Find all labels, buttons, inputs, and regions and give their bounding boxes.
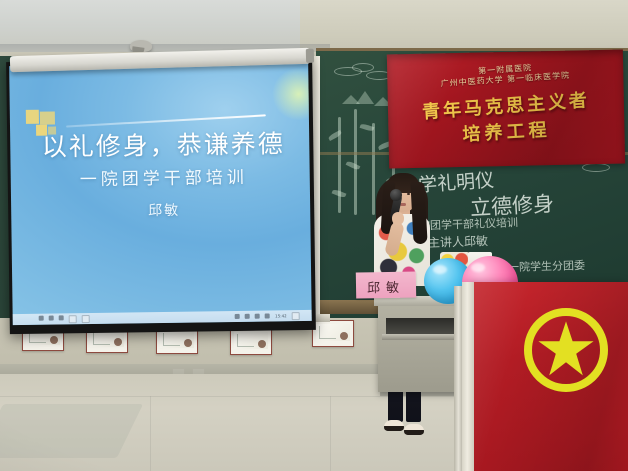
chalk-cloud-icon [582,163,610,172]
ceiling-camera-icon [130,40,152,52]
chalk-signature: 一院学生分团委 [508,257,585,275]
taskbar-left-icons[interactable] [39,315,90,324]
chalk-bamboo-icon [354,109,357,215]
chalk-cloud-icon [352,63,374,72]
banner-college: 第一临床医学院 [507,71,570,84]
framed-picture [230,328,272,355]
ime-icon[interactable] [292,312,300,320]
banner-headline-2: 培养工程 [388,111,625,150]
window-icon[interactable] [82,315,90,323]
chalk-subtitle-line-2: 主讲人邱敏 [428,232,489,251]
banner-headline-1: 青年马克思主义者 [387,83,624,126]
search-icon[interactable] [49,315,54,320]
slide-presenter-name: 邱敏 [21,198,307,222]
projection-screen: 以礼修身，恭谦养德 一院团学干部培训 邱敏 15:42 [6,58,316,334]
speaker-name-card: 邱敏 [356,271,416,298]
banner-org-line: 广州中医药大学 第一临床医学院 [387,66,623,93]
taskbar-clock[interactable]: 15:42 [275,314,287,318]
projector-hotspot [272,68,312,121]
speaker-shoe-right [404,424,424,435]
slide-title: 以礼修身，恭谦养德 [20,124,306,164]
chalk-leaf-icon [346,160,361,171]
cloud-icon[interactable] [245,314,250,319]
start-icon[interactable] [39,315,44,320]
classroom-lecture-photo: 学礼明仪 立德修身 一院团学干部礼仪培训 主讲人邱敏 一院学生分团委 第一附属医… [0,0,628,471]
speaker-hand [392,212,404,225]
network-icon[interactable] [255,314,260,319]
projected-slide: 以礼修身，恭谦养德 一院团学干部培训 邱敏 15:42 [9,62,312,325]
speaker-name-card-text: 邱敏 [356,276,416,296]
taskbar-tray[interactable]: 15:42 [235,312,300,321]
banner-org-line-top: 第一附属医院 [387,56,623,83]
speaker-shoe-left [384,420,404,431]
taskview-icon[interactable] [59,315,64,320]
chalk-bamboo-icon [372,123,375,215]
banner-university: 广州中医药大学 [440,75,503,88]
framed-picture [312,320,354,347]
banner-org-right-top: 第一附属医院 [478,63,532,76]
roller-end-cap [306,49,314,63]
chalk-mountain-icon [356,91,374,104]
slide-subtitle: 一院团学干部培训 [21,162,307,191]
red-event-banner: 第一附属医院 广州中医药大学 第一临床医学院 青年马克思主义者 培养工程 [387,50,625,169]
yellow-star-icon [536,320,596,378]
volume-icon[interactable] [265,313,270,318]
chevron-up-icon[interactable] [235,314,240,319]
chalk-heading-line-2: 立德修身 [469,188,554,222]
explorer-icon[interactable] [69,315,77,323]
flag-left-edge [462,282,474,471]
